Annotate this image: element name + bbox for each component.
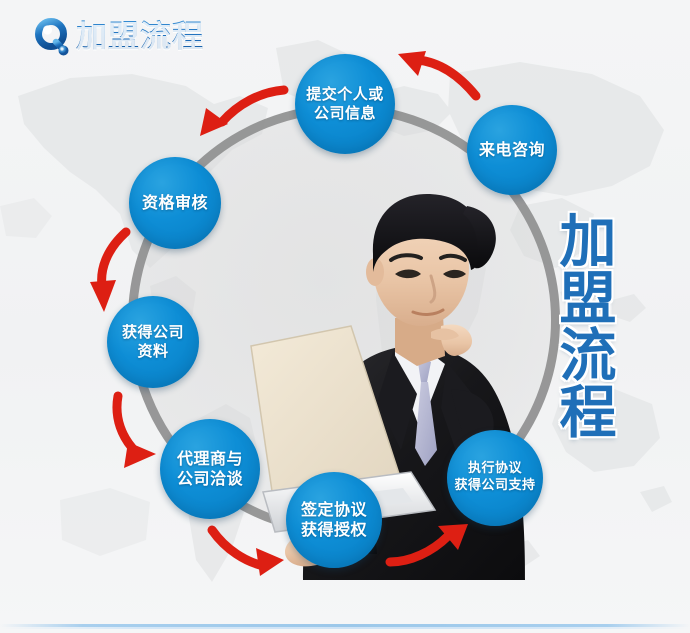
flow-node-label: 来电咨询 — [479, 140, 545, 160]
flow-node-label-line2: 公司洽谈 — [177, 469, 243, 489]
q-search-logo-icon — [34, 17, 70, 57]
arrow-between-negotiation-and-signing — [206, 524, 292, 582]
flow-node-step-5[interactable]: 代理商与 公司洽谈 — [160, 419, 260, 519]
flow-node-step-4[interactable]: 获得公司 资料 — [107, 296, 199, 388]
headline-char-1: 加 — [533, 214, 643, 271]
page-title: 加盟流程 — [76, 17, 204, 57]
flow-node-step-1[interactable]: 来电咨询 — [467, 105, 557, 195]
headline-vertical: 加 盟 流 程 — [533, 214, 643, 442]
bottom-rule — [0, 624, 690, 627]
flow-node-label-line1: 提交个人或 — [306, 85, 384, 104]
flow-node-label-line1: 签定协议 — [301, 500, 367, 520]
flow-node-label-line2: 公司信息 — [314, 104, 376, 123]
flow-node-label-line1: 获得公司 — [122, 323, 184, 342]
flow-node-label-line1: 执行协议 — [468, 461, 522, 478]
flow-node-label-line2: 资料 — [137, 342, 168, 361]
arrow-between-consult-and-submit — [396, 50, 482, 104]
flow-node-step-6[interactable]: 签定协议 获得授权 — [286, 472, 382, 568]
bottom-rule-soft — [0, 627, 690, 629]
arrow-between-submit-and-review — [192, 82, 288, 142]
flow-node-label: 资格审核 — [142, 193, 208, 213]
flow-node-step-3[interactable]: 资格审核 — [129, 157, 221, 249]
poster-canvas: 加盟流程 加 盟 流 程 — [0, 0, 690, 633]
flow-node-step-7[interactable]: 执行协议 获得公司支持 — [447, 430, 543, 526]
flow-node-label-line1: 代理商与 — [177, 449, 243, 469]
arrow-between-signing-and-execution — [386, 522, 478, 578]
flow-node-step-2[interactable]: 提交个人或 公司信息 — [295, 54, 395, 154]
headline-char-4: 程 — [533, 385, 643, 442]
headline-char-3: 流 — [533, 328, 643, 385]
header: 加盟流程 — [34, 17, 204, 57]
flow-node-label-line2: 获得公司支持 — [454, 478, 535, 495]
flow-node-label-line2: 获得授权 — [301, 520, 367, 540]
headline-char-2: 盟 — [533, 271, 643, 328]
